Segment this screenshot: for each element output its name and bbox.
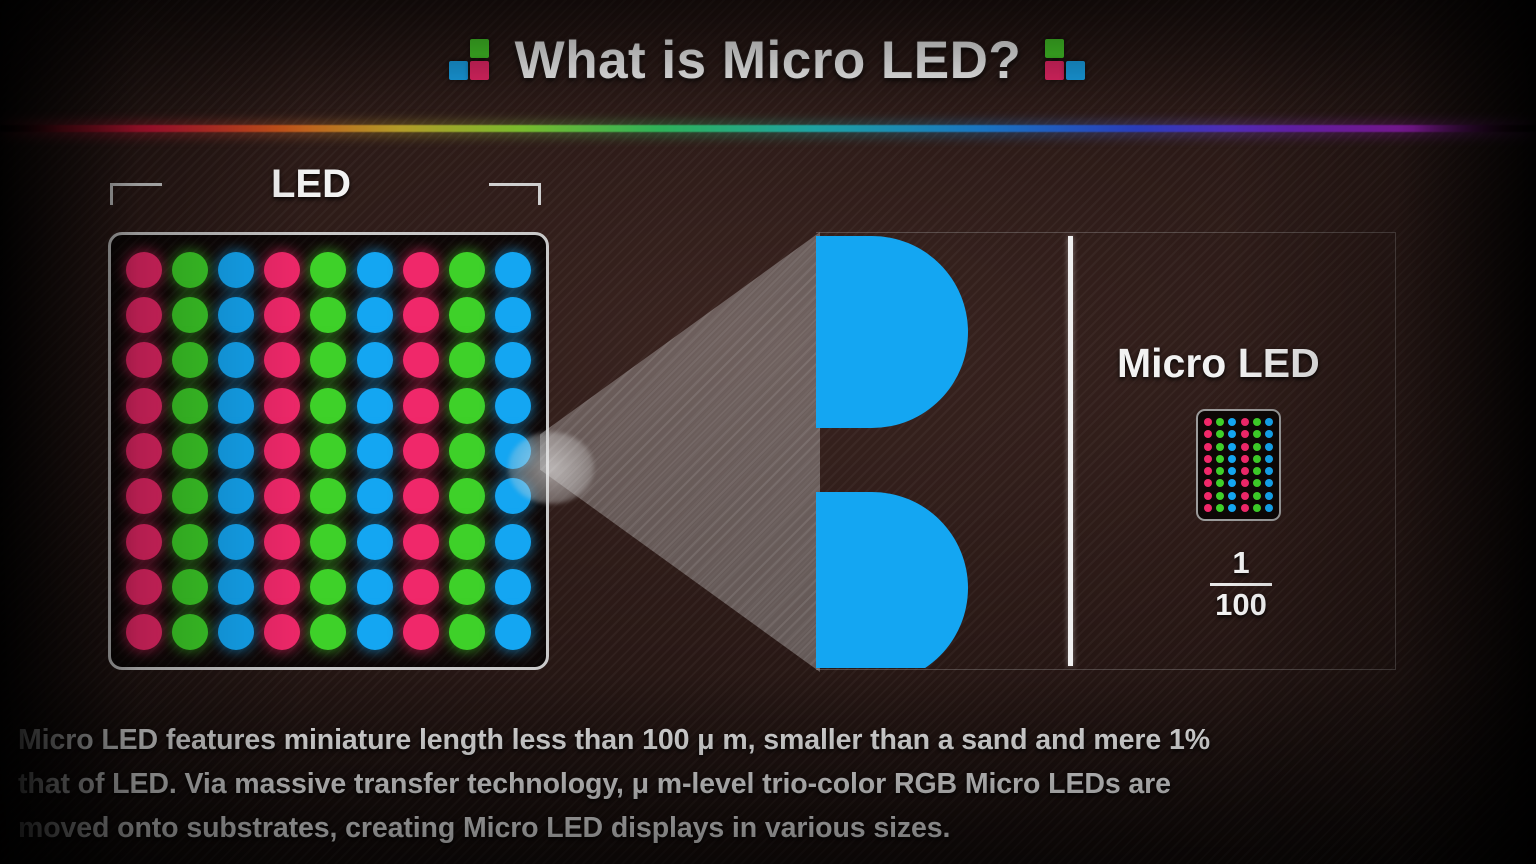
led-dot-b: [495, 569, 531, 605]
led-dot-g: [172, 297, 208, 333]
led-dot-b: [218, 297, 254, 333]
led-dot-g: [1216, 504, 1224, 512]
led-dot-g: [310, 524, 346, 560]
led-dot-r: [1204, 492, 1212, 500]
led-dot-g: [1216, 443, 1224, 451]
pixel-square-green: [470, 39, 489, 58]
led-dot-b: [1228, 492, 1236, 500]
magnifier-cone-texture: [540, 232, 820, 672]
led-dot-r: [1204, 430, 1212, 438]
led-dot-g: [449, 252, 485, 288]
led-dot-b: [495, 614, 531, 650]
led-dot-g: [1216, 430, 1224, 438]
scale-fraction: 1 100: [1210, 546, 1272, 622]
led-dot-g: [310, 252, 346, 288]
led-dot-r: [403, 433, 439, 469]
led-dot-r: [126, 388, 162, 424]
bracket-right-icon: [489, 183, 541, 205]
pixel-decoration-right-icon: [1043, 37, 1089, 83]
pixel-square-blue: [1066, 61, 1085, 80]
led-dot-b: [218, 252, 254, 288]
led-dot-b: [1228, 455, 1236, 463]
led-dot-g: [310, 342, 346, 378]
led-dot-b: [218, 569, 254, 605]
led-dot-r: [403, 569, 439, 605]
led-dot-b: [357, 478, 393, 514]
led-dot-g: [172, 252, 208, 288]
led-dot-r: [126, 614, 162, 650]
led-dot-g: [1253, 443, 1261, 451]
led-dot-g: [1216, 492, 1224, 500]
led-dot-b: [1228, 467, 1236, 475]
led-dot-b: [218, 478, 254, 514]
led-dot-r: [403, 252, 439, 288]
led-panel-label: LED: [271, 162, 351, 207]
led-dot-g: [1253, 504, 1261, 512]
led-dot-r: [403, 342, 439, 378]
led-dot-g: [172, 478, 208, 514]
magnified-dot-container: [816, 236, 1066, 668]
led-dot-b: [357, 524, 393, 560]
led-dot-g: [172, 569, 208, 605]
led-dot-r: [1204, 479, 1212, 487]
led-dot-g: [310, 297, 346, 333]
led-dot-r: [264, 388, 300, 424]
led-dot-g: [1253, 479, 1261, 487]
led-dot-r: [264, 342, 300, 378]
pixel-square-pink: [470, 61, 489, 80]
led-dot-b: [495, 388, 531, 424]
vertical-divider: [1068, 236, 1073, 666]
led-dot-g: [1253, 492, 1261, 500]
led-dot-b: [218, 524, 254, 560]
led-dot-b: [1265, 479, 1273, 487]
led-dot-g: [310, 569, 346, 605]
magnifier-cone: [540, 232, 820, 672]
led-dot-r: [403, 297, 439, 333]
led-dot-b: [218, 614, 254, 650]
led-dot-b: [1265, 504, 1273, 512]
led-dot-b: [1265, 443, 1273, 451]
led-dot-g: [1216, 479, 1224, 487]
micro-led-dot-grid: [1202, 416, 1275, 514]
led-dot-b: [1265, 492, 1273, 500]
pixel-decoration-left-icon: [447, 37, 493, 83]
led-dot-g: [449, 433, 485, 469]
led-dot-b: [495, 478, 531, 514]
led-dot-g: [1216, 418, 1224, 426]
caption-text: Micro LED features miniature length less…: [18, 718, 1518, 850]
led-dot-r: [1204, 467, 1212, 475]
led-dot-b: [357, 388, 393, 424]
led-dot-b: [495, 252, 531, 288]
led-dot-g: [1253, 455, 1261, 463]
led-dot-b: [1228, 443, 1236, 451]
led-dot-g: [310, 614, 346, 650]
led-dot-g: [449, 524, 485, 560]
fraction-numerator: 1: [1210, 546, 1272, 580]
led-dot-r: [1241, 479, 1249, 487]
caption-line-3: moved onto substrates, creating Micro LE…: [18, 806, 1518, 850]
led-dot-b: [495, 297, 531, 333]
led-dot-b: [1228, 504, 1236, 512]
led-dot-b: [1228, 430, 1236, 438]
slide-background: What is Micro LED? LED Micro LED 1 100 M…: [0, 0, 1536, 864]
led-dot-r: [264, 614, 300, 650]
led-dot-r: [1241, 492, 1249, 500]
led-dot-g: [449, 614, 485, 650]
led-dot-r: [1241, 430, 1249, 438]
led-dot-r: [1204, 504, 1212, 512]
led-dot-r: [1204, 418, 1212, 426]
led-dot-b: [218, 342, 254, 378]
led-dot-grid: [121, 247, 536, 655]
led-dot-g: [1216, 467, 1224, 475]
led-dot-r: [1204, 443, 1212, 451]
led-dot-b: [1265, 467, 1273, 475]
led-dot-g: [1253, 418, 1261, 426]
led-dot-r: [264, 569, 300, 605]
led-dot-r: [403, 388, 439, 424]
led-dot-r: [264, 478, 300, 514]
fraction-denominator: 100: [1210, 588, 1272, 622]
led-dot-g: [310, 478, 346, 514]
led-dot-b: [1265, 418, 1273, 426]
led-dot-g: [172, 433, 208, 469]
led-dot-g: [449, 342, 485, 378]
caption-line-2: that of LED. Via massive transfer techno…: [18, 762, 1518, 806]
led-dot-g: [449, 388, 485, 424]
led-dot-r: [1241, 467, 1249, 475]
led-dot-r: [403, 478, 439, 514]
led-dot-b: [1228, 479, 1236, 487]
led-dot-g: [449, 478, 485, 514]
led-dot-g: [172, 388, 208, 424]
pixel-square-pink: [1045, 61, 1064, 80]
pixel-square-green: [1045, 39, 1064, 58]
led-dot-r: [264, 297, 300, 333]
led-dot-b: [357, 569, 393, 605]
led-dot-r: [403, 614, 439, 650]
led-dot-r: [126, 342, 162, 378]
led-dot-r: [1204, 455, 1212, 463]
led-dot-r: [264, 252, 300, 288]
led-dot-r: [1241, 504, 1249, 512]
led-dot-r: [126, 478, 162, 514]
bracket-left-icon: [110, 183, 162, 205]
led-dot-g: [172, 524, 208, 560]
led-dot-b: [357, 342, 393, 378]
micro-led-panel: [1196, 409, 1281, 521]
magnified-led-dot-top: [816, 236, 968, 428]
fraction-bar: [1210, 583, 1272, 586]
pixel-square-blue: [449, 61, 468, 80]
led-dot-r: [403, 524, 439, 560]
led-dot-b: [218, 433, 254, 469]
led-dot-r: [126, 433, 162, 469]
led-dot-r: [126, 252, 162, 288]
led-dot-b: [357, 433, 393, 469]
led-dot-g: [1253, 467, 1261, 475]
led-dot-b: [218, 388, 254, 424]
led-dot-r: [264, 433, 300, 469]
led-dot-g: [310, 433, 346, 469]
caption-line-1: Micro LED features miniature length less…: [18, 718, 1518, 762]
led-dot-r: [126, 524, 162, 560]
slide-header: What is Micro LED?: [0, 0, 1536, 120]
led-dot-r: [126, 569, 162, 605]
led-dot-r: [1241, 443, 1249, 451]
led-dot-g: [310, 388, 346, 424]
led-dot-g: [172, 614, 208, 650]
led-dot-g: [1216, 455, 1224, 463]
led-panel: [108, 232, 549, 670]
page-title: What is Micro LED?: [515, 30, 1022, 91]
led-dot-g: [172, 342, 208, 378]
led-dot-r: [1241, 418, 1249, 426]
led-dot-b: [1265, 430, 1273, 438]
led-dot-r: [126, 297, 162, 333]
led-dot-b: [1265, 455, 1273, 463]
micro-led-label: Micro LED: [1117, 340, 1320, 387]
rainbow-divider: [0, 125, 1536, 132]
led-dot-b: [1228, 418, 1236, 426]
led-dot-b: [357, 614, 393, 650]
led-dot-g: [1253, 430, 1261, 438]
led-dot-r: [1241, 455, 1249, 463]
led-dot-r: [264, 524, 300, 560]
led-dot-b: [495, 342, 531, 378]
led-dot-g: [449, 569, 485, 605]
led-dot-b: [495, 433, 531, 469]
led-dot-b: [357, 297, 393, 333]
led-dot-b: [357, 252, 393, 288]
magnified-led-dot-bottom: [816, 492, 968, 668]
led-dot-b: [495, 524, 531, 560]
led-dot-g: [449, 297, 485, 333]
